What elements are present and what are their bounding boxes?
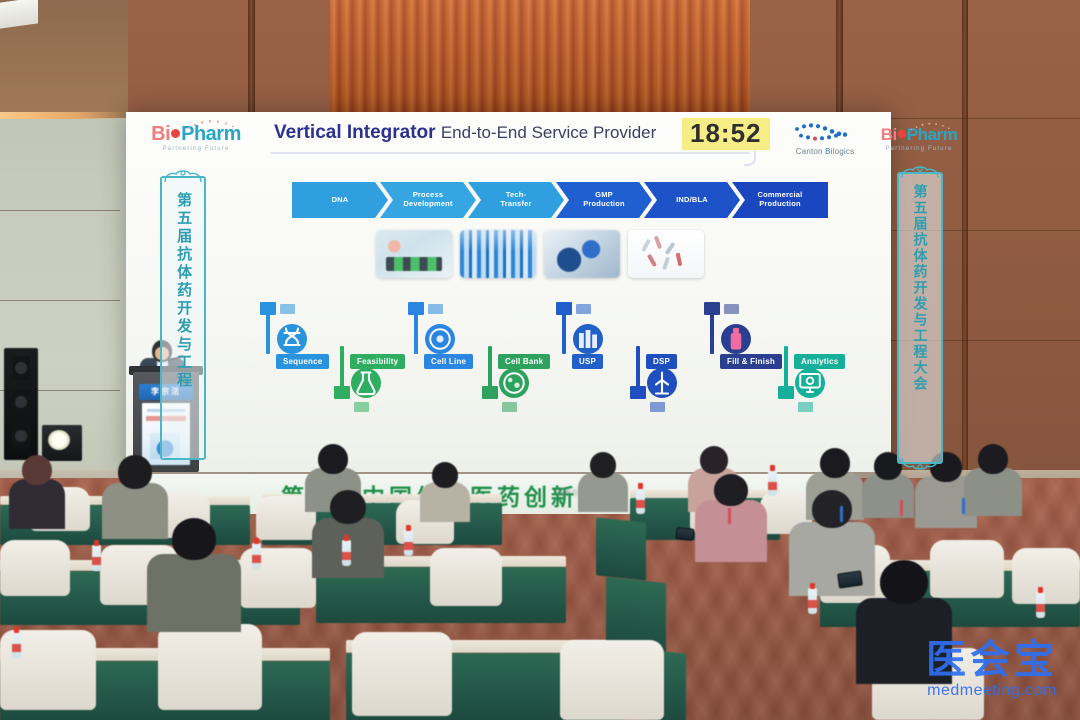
process-step-tech-transfer: Tech-Transfer: [468, 182, 564, 218]
audience-person-body: [862, 474, 914, 518]
process-step-label: DNA: [332, 196, 349, 205]
dna-icon: [277, 324, 307, 354]
process-step-dna: DNA: [292, 182, 388, 218]
node-stalk: [710, 312, 714, 354]
timeline-number: [798, 402, 813, 412]
audience-person-head: [714, 474, 748, 506]
timeline-label-fill-finish: Fill & Finish: [720, 354, 782, 369]
logo-arc-icon: [186, 119, 238, 131]
wall-trim: [962, 0, 968, 478]
lanyard: [900, 500, 903, 516]
audience-table: [596, 517, 646, 580]
slide-title: Vertical Integrator End-to-End Service P…: [274, 122, 656, 144]
audience-person-body: [9, 479, 65, 529]
timeline-number: [428, 304, 443, 314]
column-icon: [647, 368, 677, 398]
audience-person-head: [812, 490, 852, 528]
cloud-ornament-icon: [161, 169, 205, 183]
biopharm-logo-right: BiPharm Partnering Future: [873, 126, 965, 152]
audience-chair: [430, 548, 502, 606]
photo-scene: BiPharm Partnering Future Vertical Integ…: [0, 0, 1080, 720]
audience-person-body: [695, 500, 767, 562]
cloud-ornament-icon: [898, 165, 942, 179]
audience-person-head: [318, 444, 348, 474]
water-bottle: [92, 545, 101, 571]
node-stalk: [414, 312, 418, 354]
water-bottle: [12, 632, 21, 658]
timeline-number: [576, 304, 591, 314]
node-stalk: [488, 346, 492, 388]
water-bottle: [1036, 592, 1045, 618]
water-bottle: [768, 470, 777, 496]
logo-text-a: Bi: [881, 125, 897, 144]
timeline-label-dsp: DSP: [646, 354, 677, 369]
logo-tagline: Partnering Future: [140, 146, 252, 152]
timeline-label-feasibility: Feasibility: [350, 354, 405, 369]
timeline-label-cell-bank: Cell Bank: [498, 354, 550, 369]
timeline-number: [280, 304, 295, 314]
audience-person-head: [700, 446, 728, 474]
microscope-photo: [544, 230, 620, 278]
slide-content: BiPharm Partnering Future Vertical Integ…: [126, 112, 891, 472]
audience-person-head: [590, 452, 616, 478]
stage-light: [48, 430, 70, 450]
lanyard: [840, 506, 843, 522]
smartphone-icon: [675, 527, 694, 541]
cove-light: [0, 112, 128, 119]
audience-person-body: [420, 482, 470, 522]
process-timeline: SequenceFeasibilityCell LineCell BankUSP…: [246, 302, 866, 422]
logo-text-a: Bi: [151, 123, 170, 145]
photo-strip: [376, 230, 706, 278]
water-bottle: [636, 488, 645, 514]
audience-chair: [352, 632, 452, 716]
projection-screen: BiPharm Partnering Future Vertical Integ…: [126, 112, 891, 472]
audience-person-head: [118, 455, 152, 489]
audience-person-head: [22, 455, 52, 485]
timeline-label-sequence: Sequence: [276, 354, 329, 369]
node-stalk: [340, 346, 344, 388]
audience-person-body: [147, 554, 241, 632]
vials-photo: [628, 230, 704, 278]
audience-person-head: [820, 448, 850, 478]
bioreactor-photo: [460, 230, 536, 278]
water-bottle: [342, 540, 351, 566]
slide-title-rest: End-to-End Service Provider: [441, 123, 656, 142]
audience-chair: [930, 540, 1004, 598]
logo-arc-icon: [909, 121, 953, 133]
timeline-number: [724, 304, 739, 314]
process-step-label: GMPProduction: [583, 191, 625, 208]
timeline-label-usp: USP: [572, 354, 603, 369]
logo-tagline: Partnering Future: [873, 146, 965, 152]
countdown-timer: 18:52: [682, 118, 770, 150]
pipetting-photo: [376, 230, 452, 278]
audience-chair: [0, 540, 70, 596]
pa-speaker-stack: [4, 348, 38, 460]
audience-person-body: [856, 598, 952, 684]
wall-seam: [0, 300, 120, 301]
bioreactor-icon: [573, 324, 603, 354]
biopharm-logo-left: BiPharm Partnering Future: [140, 124, 252, 152]
timeline-number: [354, 402, 369, 412]
timeline-label-cell-line: Cell Line: [424, 354, 473, 369]
flask-icon: [351, 368, 381, 398]
water-bottle: [252, 543, 261, 569]
process-step-label: ProcessDevelopment: [403, 191, 452, 208]
cellbank-icon: [499, 368, 529, 398]
logo-dot-icon: [898, 130, 906, 138]
audience-person-head: [172, 518, 216, 560]
process-chevrons: DNAProcessDevelopmentTech-TransferGMPPro…: [292, 182, 812, 218]
slide-title-bold: Vertical Integrator: [274, 122, 436, 143]
banner-left-text: 第五届抗体药开发与工程: [175, 192, 191, 390]
node-stalk: [636, 346, 640, 388]
process-step-label: Tech-Transfer: [500, 191, 531, 208]
monitor-icon: [795, 368, 825, 398]
cloud-ornament-icon: [898, 457, 942, 471]
audience-person-body: [578, 472, 628, 512]
lanyard: [962, 498, 965, 514]
canton-wordmark: Canton Bilogics: [781, 147, 869, 156]
process-step-label: IND/BLA: [676, 196, 708, 205]
process-step-process-development: ProcessDevelopment: [380, 182, 476, 218]
audience-person-head: [330, 490, 366, 524]
audience-person-head: [978, 444, 1008, 474]
process-step-ind-bla: IND/BLA: [644, 182, 740, 218]
lanyard: [728, 508, 731, 524]
audience-chair: [560, 640, 664, 720]
node-stalk: [784, 346, 788, 388]
node-stalk: [266, 312, 270, 354]
audience-person-head: [432, 462, 458, 488]
process-step-commercial-production: CommercialProduction: [732, 182, 828, 218]
banner-right: 第五届抗体药开发与工程大会: [897, 172, 943, 464]
audience-person-body: [964, 468, 1022, 516]
timeline-number: [650, 402, 665, 412]
audience-person-body: [102, 483, 168, 539]
wall-seam: [0, 210, 120, 211]
banner-left: 第五届抗体药开发与工程: [160, 176, 206, 460]
process-step-label: CommercialProduction: [758, 191, 803, 208]
curtain: [330, 0, 750, 130]
water-bottle: [808, 588, 817, 614]
audience-chair: [158, 624, 262, 710]
cell-icon: [425, 324, 455, 354]
vialfill-icon: [721, 324, 751, 354]
node-stalk: [562, 312, 566, 354]
dna-swirl-icon: [781, 120, 867, 146]
banner-right-text: 第五届抗体药开发与工程大会: [912, 184, 927, 392]
water-bottle: [404, 530, 413, 556]
audience-chair: [1012, 548, 1080, 604]
audience-person-head: [880, 560, 928, 604]
timeline-number: [502, 402, 517, 412]
canton-biologics-logo: Canton Bilogics: [781, 120, 869, 156]
timeline-label-analytics: Analytics: [794, 354, 845, 369]
title-underline: [270, 152, 750, 154]
process-step-gmp-production: GMPProduction: [556, 182, 652, 218]
logo-dot-icon: [171, 129, 180, 138]
